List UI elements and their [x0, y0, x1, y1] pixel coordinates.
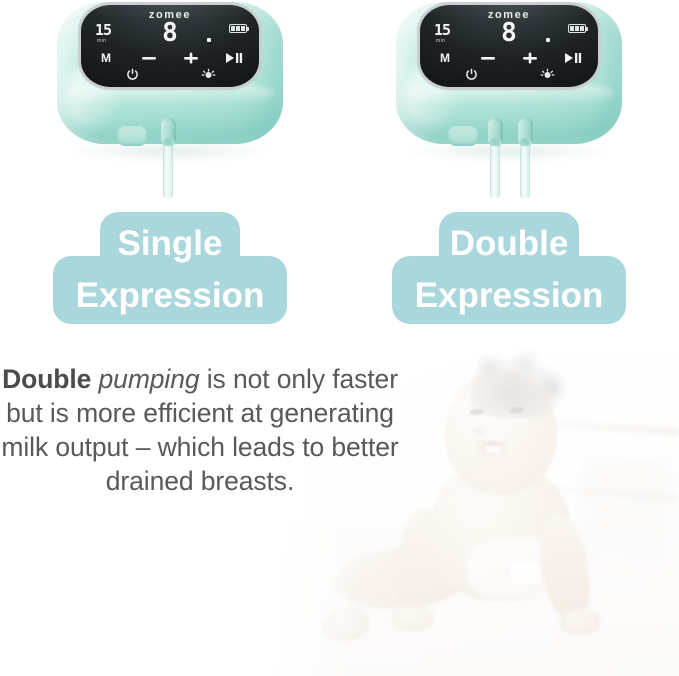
night-light-icon[interactable]	[193, 68, 223, 81]
battery-icon	[229, 24, 247, 33]
baby-teeth	[485, 446, 501, 453]
power-icon[interactable]	[456, 68, 486, 81]
badge-single-expression: Single Expression	[53, 212, 287, 324]
baby-hair-puff-1	[476, 352, 502, 376]
tube-port	[161, 118, 176, 145]
unused-port-cover	[448, 126, 478, 146]
control-row-primary: M	[91, 52, 249, 64]
pump-control-faceplate: zomee 15 min 8 M	[81, 5, 259, 87]
pump-control-faceplate: zomee 15 min 8 M	[420, 5, 598, 87]
baby-hair-puff-2	[511, 347, 539, 373]
control-row-secondary	[430, 68, 588, 81]
minus-icon[interactable]	[473, 52, 503, 64]
battery-icon	[568, 24, 586, 33]
tube-right	[520, 146, 530, 198]
lcd-dot-indicator	[207, 38, 211, 42]
baby-hair-puff-3	[540, 370, 566, 404]
baby-arm-right	[534, 512, 596, 624]
benefit-section: Double pumping is not only faster but is…	[0, 340, 679, 676]
baby-foot	[318, 603, 372, 646]
play-pause-icon[interactable]	[219, 52, 249, 64]
baby-hand-right	[560, 609, 600, 635]
lcd-level-value: 8	[162, 20, 178, 46]
control-row-primary: M	[430, 52, 588, 64]
lcd-unit-label: min	[436, 38, 445, 44]
control-row-secondary	[91, 68, 249, 81]
lcd-timer-value: 15	[434, 22, 450, 38]
badge-line-1: Single	[53, 226, 287, 261]
breast-pump-double: zomee 15 min 8 M	[396, 2, 622, 150]
product-comparison-page: zomee 15 min 8 M	[0, 0, 679, 676]
lcd-timer: 15 min	[95, 22, 129, 46]
tube-ports-single	[57, 130, 283, 200]
plus-icon[interactable]	[176, 52, 206, 64]
lcd-level-value: 8	[501, 20, 517, 46]
tube-ports-double	[396, 130, 622, 200]
lcd-unit-label: min	[97, 38, 106, 44]
unused-port-cover	[117, 126, 147, 146]
tube-left	[490, 146, 500, 198]
comparison-section: zomee 15 min 8 M	[0, 0, 679, 340]
lcd-display: 15 min 8	[89, 22, 251, 48]
badge-double-expression: Double Expression	[392, 212, 626, 324]
mode-button[interactable]: M	[91, 52, 121, 64]
breast-pump-single: zomee 15 min 8 M	[57, 2, 283, 150]
mode-button[interactable]: M	[430, 52, 460, 64]
brand-logo: zomee	[81, 9, 259, 21]
night-light-icon[interactable]	[532, 68, 562, 81]
lcd-timer-value: 15	[95, 22, 111, 38]
plus-icon[interactable]	[515, 52, 545, 64]
play-pause-icon[interactable]	[558, 52, 588, 64]
tube-port-left	[488, 118, 503, 145]
tube	[163, 146, 173, 198]
baby-diaper-tab	[511, 562, 541, 584]
benefit-text: Double pumping is not only faster but is…	[0, 362, 400, 498]
benefit-text-bold: Double	[2, 364, 91, 394]
lcd-timer: 15 min	[434, 22, 468, 46]
badge-line-2: Expression	[53, 278, 287, 313]
baby-hand-left	[392, 605, 434, 631]
lcd-dot-indicator	[546, 38, 550, 42]
lcd-display: 15 min 8	[428, 22, 590, 48]
benefit-text-italic: pumping	[99, 364, 200, 394]
badge-line-1: Double	[392, 226, 626, 261]
baby-nose	[473, 426, 486, 435]
minus-icon[interactable]	[134, 52, 164, 64]
tube-port-right	[518, 118, 533, 145]
double-expression-column: zomee 15 min 8 M	[339, 0, 679, 340]
badge-line-2: Expression	[392, 278, 626, 313]
brand-logo: zomee	[420, 9, 598, 21]
power-icon[interactable]	[117, 68, 147, 81]
single-expression-column: zomee 15 min 8 M	[0, 0, 340, 340]
